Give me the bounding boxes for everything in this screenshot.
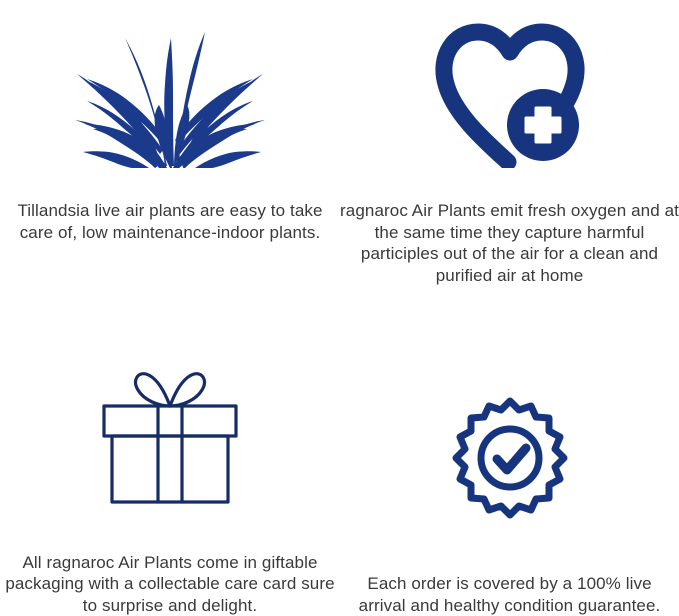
feature-caption: ragnaroc Air Plants emit fresh oxygen an… xyxy=(340,168,679,286)
guarantee-badge-icon xyxy=(447,395,573,527)
feature-cell-heart-plus: ragnaroc Air Plants emit fresh oxygen an… xyxy=(340,0,679,308)
feature-caption: Each order is covered by a 100% live arr… xyxy=(340,527,679,616)
feature-caption: Tillandsia live air plants are easy to t… xyxy=(0,168,340,243)
feature-cell-guarantee-badge: Each order is covered by a 100% live arr… xyxy=(340,308,679,616)
heart-plus-icon-wrap xyxy=(340,0,679,168)
feature-cell-air-plant: Tillandsia live air plants are easy to t… xyxy=(0,0,340,308)
air-plant-icon xyxy=(75,18,265,168)
guarantee-badge-icon-wrap xyxy=(340,308,679,527)
feature-grid: Tillandsia live air plants are easy to t… xyxy=(0,0,679,616)
feature-caption: All ragnaroc Air Plants come in giftable… xyxy=(0,508,340,616)
feature-cell-gift-box: All ragnaroc Air Plants come in giftable… xyxy=(0,308,340,616)
gift-box-icon-wrap xyxy=(0,308,340,508)
air-plant-icon-wrap xyxy=(0,0,340,168)
heart-plus-icon xyxy=(434,22,586,168)
gift-box-icon xyxy=(94,366,246,508)
